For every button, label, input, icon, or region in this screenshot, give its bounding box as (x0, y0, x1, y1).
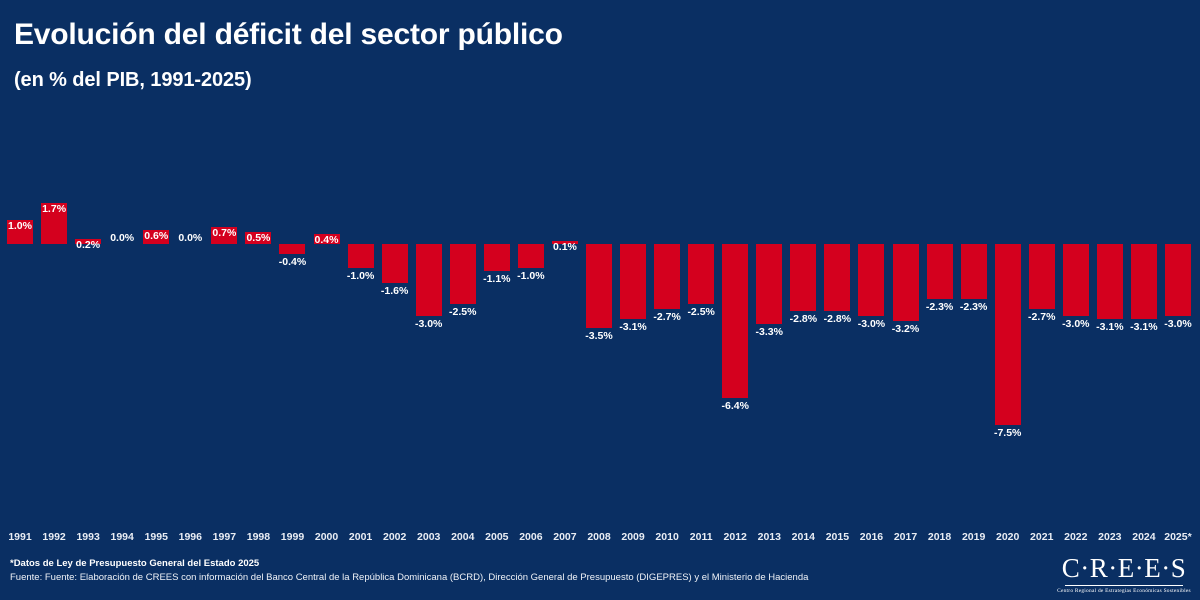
bar-value-label: -3.0% (1164, 319, 1191, 330)
bar[interactable] (961, 244, 987, 299)
bar[interactable] (688, 244, 714, 304)
bar-slot: -3.0% (1059, 150, 1093, 530)
bar-value-label: 1.0% (8, 221, 32, 232)
bar[interactable] (824, 244, 850, 311)
bar-slot: 0.6% (139, 150, 173, 530)
bar-value-label: -1.6% (381, 286, 408, 297)
bar-value-label: -1.0% (347, 271, 374, 282)
bar-slot: -3.1% (616, 150, 650, 530)
bar-slot: -2.7% (650, 150, 684, 530)
bar-slot: -2.7% (1025, 150, 1059, 530)
bar-value-label: -3.0% (1062, 319, 1089, 330)
crees-tagline: Centro Regional de Estrategias Económica… (1057, 588, 1191, 594)
bar-value-label: -0.4% (279, 257, 306, 268)
bar-value-label: -2.8% (824, 314, 851, 325)
bar-slot: -2.3% (957, 150, 991, 530)
bar-value-label: -3.1% (1130, 322, 1157, 333)
bar-chart-plot-area: 1.0%1.7%0.2%0.0%0.6%0.0%0.7%0.5%-0.4%0.4… (0, 150, 1200, 530)
bar-slot: 0.0% (173, 150, 207, 530)
bar-slot: -3.1% (1127, 150, 1161, 530)
x-axis-tick: 2008 (587, 531, 610, 543)
bar-value-label: -2.3% (926, 302, 953, 313)
x-axis-tick: 2009 (621, 531, 644, 543)
x-axis-tick: 2013 (758, 531, 781, 543)
bar-value-label: -1.0% (517, 271, 544, 282)
bar-value-label: 0.6% (144, 231, 168, 242)
source-text: Fuente: Fuente: Elaboración de CREES con… (10, 572, 808, 583)
bar-value-label: -2.5% (449, 307, 476, 318)
bar-value-label: 0.0% (178, 233, 202, 244)
bar-value-label: 1.7% (42, 204, 66, 215)
x-axis-tick: 2012 (724, 531, 747, 543)
bar-value-label: -7.5% (994, 428, 1021, 439)
bar-slot: -0.4% (275, 150, 309, 530)
x-axis-tick: 2023 (1098, 531, 1121, 543)
x-axis-tick: 2018 (928, 531, 951, 543)
bar[interactable] (484, 244, 510, 271)
bar-slot: -3.2% (888, 150, 922, 530)
bar-value-label: -2.3% (960, 302, 987, 313)
logo-divider (1065, 585, 1183, 586)
crees-logo: C·R·E·E·S Centro Regional de Estrategias… (1052, 550, 1196, 598)
x-axis-tick: 2005 (485, 531, 508, 543)
bar[interactable] (279, 244, 305, 254)
bar[interactable] (1097, 244, 1123, 319)
crees-wordmark: C·R·E·E·S (1062, 555, 1186, 582)
x-axis-tick: 2021 (1030, 531, 1053, 543)
bar-value-label: 0.1% (553, 242, 577, 253)
x-axis-tick: 2004 (451, 531, 474, 543)
bar-slot: 0.1% (548, 150, 582, 530)
bar-slot: -3.3% (752, 150, 786, 530)
x-axis-tick: 2024 (1132, 531, 1155, 543)
bar-slot: -3.0% (1161, 150, 1195, 530)
x-axis-tick: 1997 (213, 531, 236, 543)
bar[interactable] (893, 244, 919, 321)
x-axis-tick: 2001 (349, 531, 372, 543)
bar-slot: -6.4% (718, 150, 752, 530)
bar[interactable] (1063, 244, 1089, 316)
x-axis-tick: 2007 (553, 531, 576, 543)
bar[interactable] (416, 244, 442, 316)
x-axis-tick: 2003 (417, 531, 440, 543)
bar-slot: -2.8% (786, 150, 820, 530)
bar-value-label: 0.0% (110, 233, 134, 244)
bar[interactable] (927, 244, 953, 299)
bar-value-label: -2.7% (653, 312, 680, 323)
bar-value-label: -3.2% (892, 324, 919, 335)
bar[interactable] (654, 244, 680, 309)
bar-value-label: -6.4% (721, 401, 748, 412)
bar-value-label: -3.5% (585, 331, 612, 342)
bar[interactable] (1165, 244, 1191, 316)
bar-slot: 0.0% (105, 150, 139, 530)
chart-footer: *Datos de Ley de Presupuesto General del… (0, 556, 1200, 600)
bar[interactable] (756, 244, 782, 324)
x-axis-tick: 1995 (145, 531, 168, 543)
bar-slot: 0.2% (71, 150, 105, 530)
bar[interactable] (382, 244, 408, 283)
bar-slot: -3.1% (1093, 150, 1127, 530)
x-axis-tick: 2022 (1064, 531, 1087, 543)
bar[interactable] (1131, 244, 1157, 319)
x-axis-tick: 2010 (655, 531, 678, 543)
bar-value-label: -3.3% (756, 327, 783, 338)
bar-value-label: -2.8% (790, 314, 817, 325)
bar[interactable] (518, 244, 544, 268)
bar[interactable] (858, 244, 884, 316)
x-axis-tick: 1993 (76, 531, 99, 543)
x-axis-tick: 2019 (962, 531, 985, 543)
bar[interactable] (790, 244, 816, 311)
bar-slot: 0.5% (241, 150, 275, 530)
bar-value-label: 0.2% (76, 240, 100, 251)
x-axis-tick: 2002 (383, 531, 406, 543)
bar[interactable] (586, 244, 612, 328)
bar-slot: -2.8% (820, 150, 854, 530)
bar-slot: 0.7% (207, 150, 241, 530)
bar-value-label: 0.7% (212, 228, 236, 239)
x-axis-tick: 2006 (519, 531, 542, 543)
bar[interactable] (995, 244, 1021, 425)
bar[interactable] (1029, 244, 1055, 309)
bar-slot: -1.0% (514, 150, 548, 530)
bar-slot: 0.4% (310, 150, 344, 530)
bar-slot: -2.3% (923, 150, 957, 530)
chart-header: Evolución del déficit del sector público… (0, 0, 1200, 92)
x-axis-tick: 1992 (42, 531, 65, 543)
bar-slot: -3.0% (412, 150, 446, 530)
x-axis-tick: 2017 (894, 531, 917, 543)
x-axis-tick: 1996 (179, 531, 202, 543)
bar-slot: -7.5% (991, 150, 1025, 530)
x-axis-tick: 2025* (1164, 531, 1191, 543)
bar-slot: -3.5% (582, 150, 616, 530)
x-axis-tick: 2014 (792, 531, 815, 543)
x-axis-tick: 2020 (996, 531, 1019, 543)
bar[interactable] (620, 244, 646, 319)
x-axis-tick: 2015 (826, 531, 849, 543)
bar[interactable] (348, 244, 374, 268)
bar-slot: -1.0% (344, 150, 378, 530)
x-axis-tick: 1994 (111, 531, 134, 543)
bar-value-label: 0.5% (246, 233, 270, 244)
bar-value-label: 0.4% (315, 235, 339, 246)
bar-value-label: -3.1% (1096, 322, 1123, 333)
bar-value-label: -3.0% (858, 319, 885, 330)
page-title: Evolución del déficit del sector público (14, 18, 1200, 53)
bar-value-label: -2.5% (687, 307, 714, 318)
bar-slot: -3.0% (854, 150, 888, 530)
x-axis-tick: 1998 (247, 531, 270, 543)
footnote-text: *Datos de Ley de Presupuesto General del… (10, 558, 259, 569)
bar[interactable] (722, 244, 748, 398)
bar-value-label: -2.7% (1028, 312, 1055, 323)
x-axis-tick: 2016 (860, 531, 883, 543)
x-axis-tick: 2000 (315, 531, 338, 543)
x-axis-tick: 1999 (281, 531, 304, 543)
bar-slot: 1.0% (3, 150, 37, 530)
bar[interactable] (450, 244, 476, 304)
bar-value-label: -3.0% (415, 319, 442, 330)
x-axis-tick: 1991 (8, 531, 31, 543)
bar-slot: -2.5% (446, 150, 480, 530)
bar-value-label: -1.1% (483, 274, 510, 285)
bar-slot: -1.1% (480, 150, 514, 530)
bar-value-label: -3.1% (619, 322, 646, 333)
bar-slot: -1.6% (378, 150, 412, 530)
chart-subtitle: (en % del PIB, 1991-2025) (14, 69, 1200, 92)
bar-slot: -2.5% (684, 150, 718, 530)
x-axis-tick: 2011 (690, 531, 713, 543)
x-axis-tick-labels: 1991199219931994199519961997199819992000… (0, 531, 1200, 549)
bar-slot: 1.7% (37, 150, 71, 530)
